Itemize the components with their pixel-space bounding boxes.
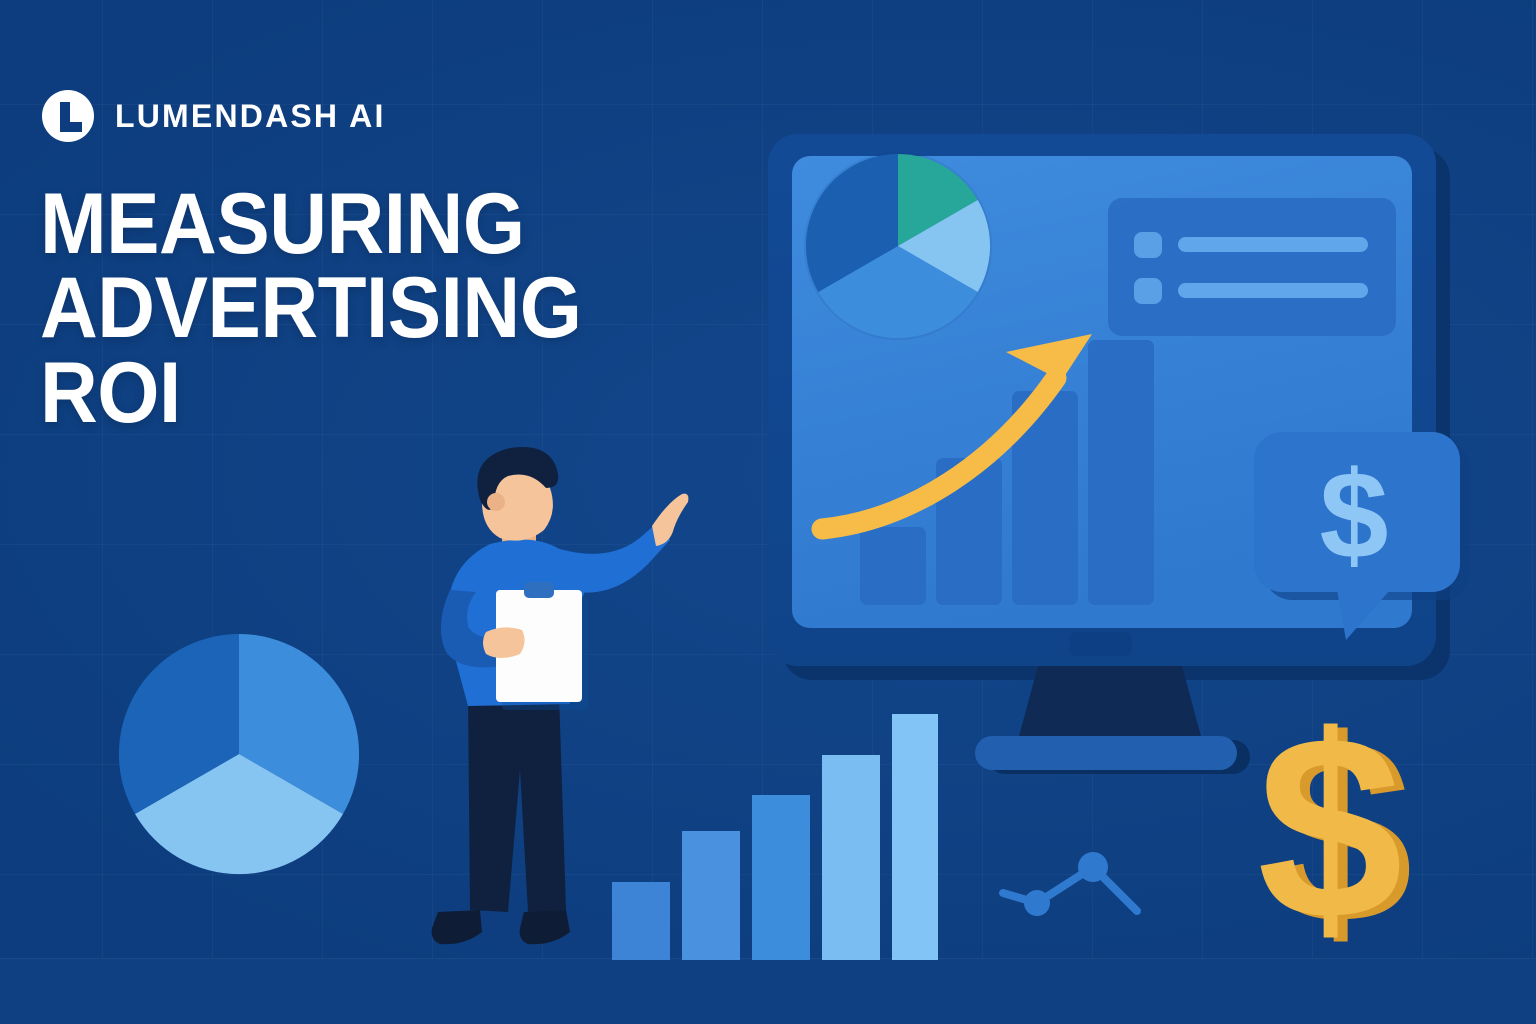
sparkline-point-2 <box>1078 852 1108 882</box>
monitor-power-nub <box>1070 632 1132 656</box>
lumen-circle-l-logo <box>40 88 96 144</box>
dollar-sign-3d: $ $ <box>1232 706 1432 956</box>
monitor-stand-neck <box>1018 666 1202 740</box>
person-shoe-left <box>432 910 482 944</box>
dollar-speech-bubble: $ <box>1250 428 1480 643</box>
person-hand-holding <box>483 627 525 658</box>
dollar-glyph: $ <box>1257 706 1403 956</box>
person-shoe-right <box>520 910 570 944</box>
headline-line-3: ROI <box>40 351 654 435</box>
legend-bar-1 <box>1178 237 1368 252</box>
bubble-tail <box>1336 584 1390 640</box>
floor-line <box>0 958 1536 1024</box>
person-hand-pointing <box>652 494 688 546</box>
brand-lockup: LUMENDASH AI <box>40 88 386 144</box>
pie-chart-icon <box>804 152 992 340</box>
legend-list-card <box>1108 198 1396 336</box>
line-chart-sparkline <box>995 815 1185 925</box>
legend-bar-2 <box>1178 283 1368 298</box>
legend-swatch-1 <box>1134 232 1162 258</box>
page-title: MEASURING ADVERTISING ROI <box>40 182 654 435</box>
fg-bar-5 <box>892 714 938 960</box>
person-ear <box>487 493 505 511</box>
headline-line-1: MEASURING <box>40 182 654 266</box>
presenter-person <box>424 440 724 970</box>
person-arm-pointing <box>556 522 670 593</box>
monitor-stand-base <box>975 736 1237 770</box>
hero-banner: $ $ $ <box>0 0 1536 1024</box>
sparkline-point-1 <box>1024 890 1050 916</box>
fg-bar-3 <box>752 795 810 960</box>
foreground-pie-chart-body <box>115 630 363 878</box>
fg-bar-4 <box>822 755 880 960</box>
person-pants <box>468 693 566 912</box>
headline-line-2: ADVERTISING <box>40 266 654 350</box>
bubble-dollar-glyph: $ <box>1320 447 1389 585</box>
brand-name: LUMENDASH AI <box>115 100 386 132</box>
legend-swatch-2 <box>1134 278 1162 304</box>
